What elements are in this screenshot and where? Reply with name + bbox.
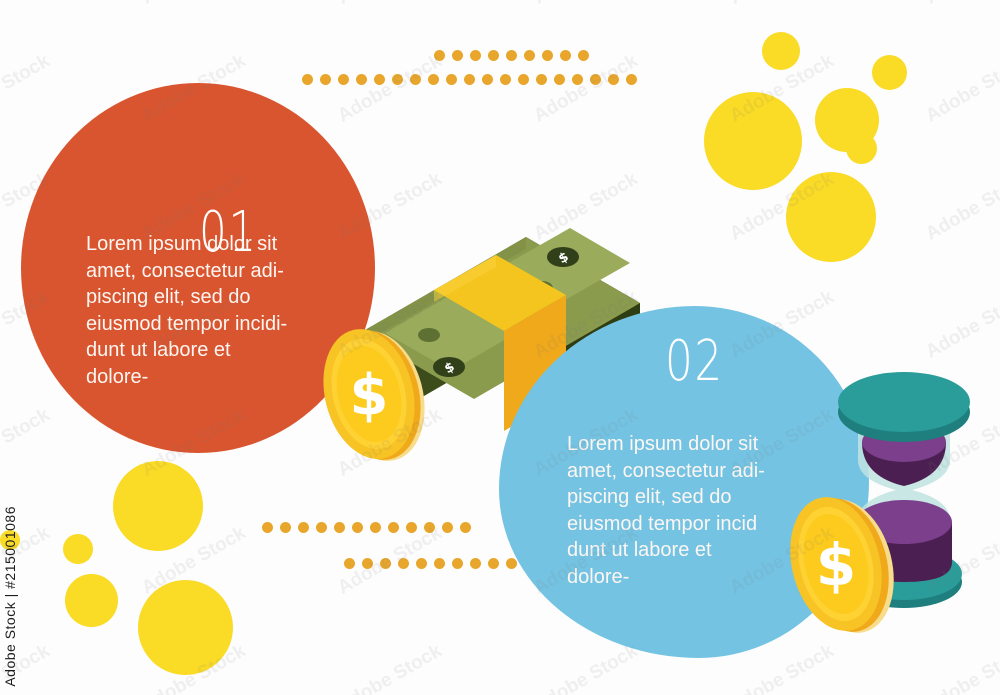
- infographic-canvas: 01 Lorem ipsum dolor sit amet, consectet…: [0, 0, 1000, 695]
- decorative-dot: [334, 522, 345, 533]
- decorative-dot: [578, 50, 589, 61]
- watermark-text: Adobe Stock: [530, 0, 642, 10]
- yellow-blob-1: [762, 32, 800, 70]
- yellow-blob-10: [138, 580, 233, 675]
- decorative-dot: [626, 74, 637, 85]
- decorative-dot: [262, 522, 273, 533]
- decorative-dot: [500, 74, 511, 85]
- decorative-dot: [560, 50, 571, 61]
- decorative-dot: [428, 74, 439, 85]
- decorative-dot: [542, 50, 553, 61]
- step-number-02: 02: [665, 334, 724, 390]
- yellow-blob-3: [704, 92, 802, 190]
- decorative-dot: [470, 558, 481, 569]
- decorative-dot: [608, 74, 619, 85]
- yellow-blob-8: [63, 534, 93, 564]
- decorative-dot: [434, 50, 445, 61]
- decorative-dot: [452, 50, 463, 61]
- decorative-dot: [554, 74, 565, 85]
- stock-id-label: Adobe Stock | #215001086: [2, 506, 18, 687]
- dot-row-2: [302, 74, 637, 85]
- decorative-dot: [392, 74, 403, 85]
- decorative-dot: [434, 558, 445, 569]
- watermark-text: Adobe Stock: [334, 50, 446, 127]
- yellow-blob-6: [786, 172, 876, 262]
- decorative-dot: [590, 74, 601, 85]
- decorative-dot: [488, 50, 499, 61]
- watermark-text: Adobe Stock: [0, 0, 54, 10]
- decorative-dot: [344, 558, 355, 569]
- decorative-dot: [460, 522, 471, 533]
- decorative-dot: [302, 74, 313, 85]
- dollar-coin-right-icon: $: [780, 490, 898, 640]
- dot-row-3: [262, 522, 471, 533]
- yellow-blob-7: [113, 461, 203, 551]
- decorative-dot: [506, 50, 517, 61]
- decorative-dot: [572, 74, 583, 85]
- watermark-text: Adobe Stock: [922, 640, 1000, 695]
- decorative-dot: [320, 74, 331, 85]
- yellow-blob-5: [846, 133, 877, 164]
- decorative-dot: [388, 522, 399, 533]
- decorative-dot: [424, 522, 435, 533]
- watermark-text: Adobe Stock: [922, 0, 1000, 10]
- decorative-dot: [536, 74, 547, 85]
- watermark-text: Adobe Stock: [334, 640, 446, 695]
- decorative-dot: [398, 558, 409, 569]
- watermark-text: Adobe Stock: [922, 50, 1000, 127]
- dot-row-1: [434, 50, 589, 61]
- decorative-dot: [356, 74, 367, 85]
- decorative-dot: [442, 522, 453, 533]
- watermark-text: Adobe Stock: [922, 168, 1000, 245]
- step-body-02: Lorem ipsum dolor sit amet, consectetur …: [567, 431, 807, 591]
- decorative-dot: [506, 558, 517, 569]
- decorative-dot: [374, 74, 385, 85]
- watermark-text: Adobe Stock: [0, 404, 54, 481]
- decorative-dot: [316, 522, 327, 533]
- decorative-dot: [298, 522, 309, 533]
- coin-dollar-glyph: $: [350, 363, 389, 428]
- decorative-dot: [416, 558, 427, 569]
- watermark-text: Adobe Stock: [138, 0, 250, 10]
- watermark-text: Adobe Stock: [334, 0, 446, 10]
- watermark-text: Adobe Stock: [530, 50, 642, 127]
- decorative-dot: [370, 522, 381, 533]
- decorative-dot: [464, 74, 475, 85]
- decorative-dot: [362, 558, 373, 569]
- watermark-text: Adobe Stock: [0, 50, 54, 127]
- decorative-dot: [470, 50, 481, 61]
- decorative-dot: [488, 558, 499, 569]
- watermark-text: Adobe Stock: [726, 0, 838, 10]
- watermark-text: Adobe Stock: [530, 640, 642, 695]
- decorative-dot: [410, 74, 421, 85]
- decorative-dot: [518, 74, 529, 85]
- decorative-dot: [446, 74, 457, 85]
- decorative-dot: [280, 522, 291, 533]
- yellow-blob-9: [65, 574, 118, 627]
- decorative-dot: [338, 74, 349, 85]
- decorative-dot: [452, 558, 463, 569]
- decorative-dot: [406, 522, 417, 533]
- yellow-blob-2: [872, 55, 907, 90]
- decorative-dot: [524, 50, 535, 61]
- step-body-01: Lorem ipsum dolor sit amet, consectetur …: [86, 231, 326, 391]
- decorative-dot: [352, 522, 363, 533]
- coin-dollar-glyph: $: [816, 531, 856, 599]
- decorative-dot: [380, 558, 391, 569]
- dollar-coin-left-icon: $: [313, 322, 431, 467]
- decorative-dot: [482, 74, 493, 85]
